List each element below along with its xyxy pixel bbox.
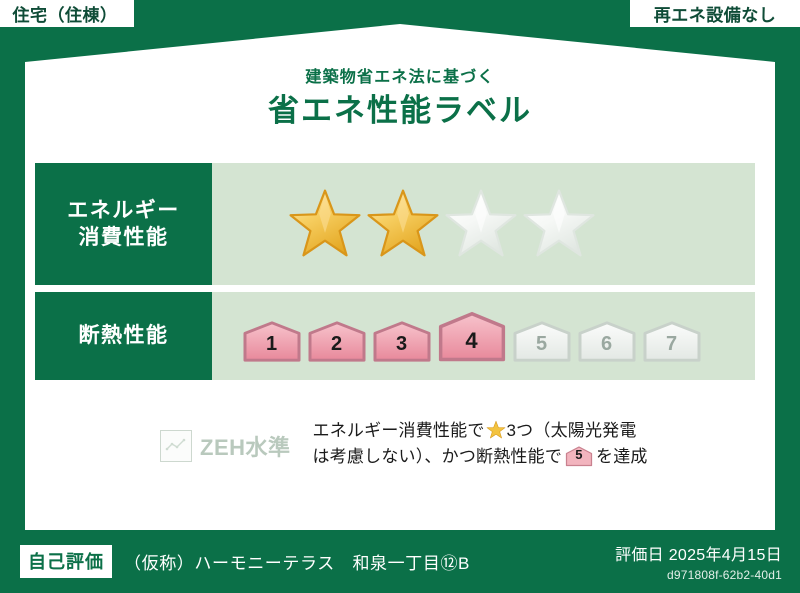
zeh-desc-part1: エネルギー消費性能で [313, 421, 485, 440]
insulation-grade-chip-6: 6 [576, 319, 638, 363]
energy-performance-label: 住宅（住棟） 再エネ設備なし 建築物省エネ法に基づく 省エネ性能ラベル エネルギ… [0, 0, 800, 593]
title-block: 建築物省エネ法に基づく 省エネ性能ラベル [0, 68, 800, 129]
insulation-grade-value: 7 [666, 334, 677, 363]
zeh-mark-label: ZEH水準 [200, 430, 291, 462]
insulation-performance-row: 断熱性能 1234567 [35, 292, 755, 380]
tab-building-type-label: 住宅（住棟） [13, 1, 118, 26]
energy-label-line1: エネルギー [67, 197, 180, 224]
evaluation-id: d971808f-62b2-40d1 [615, 568, 782, 582]
footer-right-group: 評価日 2025年4月15日 d971808f-62b2-40d1 [615, 541, 782, 582]
energy-performance-row: エネルギー 消費性能 [35, 163, 755, 285]
insulation-grade-value: 2 [331, 334, 342, 363]
insulation-grade-chip-5: 5 [511, 319, 573, 363]
insulation-grade-chip-2: 2 [306, 319, 368, 363]
insulation-grade-scale: 1234567 [241, 309, 703, 363]
evaluation-date: 評価日 2025年4月15日 [615, 541, 782, 565]
page-title: 省エネ性能ラベル [0, 93, 800, 129]
insulation-rating-body: 1234567 [212, 292, 755, 380]
insulation-grade-chip-7: 7 [641, 319, 703, 363]
footer-bar: 自己評価 （仮称）ハーモニーテラス 和泉一丁目⑫B 評価日 2025年4月15日… [0, 530, 800, 593]
star-icon-inline [486, 420, 506, 440]
insulation-grade-value: 4 [465, 330, 477, 363]
self-evaluation-badge: 自己評価 [20, 545, 112, 578]
insulation-grade-chip-1: 1 [241, 319, 303, 363]
insulation-grade-chip-3: 3 [371, 319, 433, 363]
insulation-performance-label-block: 断熱性能 [35, 292, 212, 380]
tab-building-type: 住宅（住棟） [0, 0, 134, 27]
energy-label-line2: 消費性能 [79, 224, 169, 251]
insulation-grade-chip-4: 4 [436, 309, 508, 363]
zeh-checkbox-icon [160, 430, 192, 462]
insulation-grade-chip-inline: 5 [565, 445, 593, 467]
insulation-grade-value: 1 [266, 334, 277, 363]
insulation-grade-chip-inline-value: 5 [565, 445, 593, 467]
star-icon [288, 187, 362, 261]
energy-performance-label-block: エネルギー 消費性能 [35, 163, 212, 285]
star-icon [366, 187, 440, 261]
title-subtitle: 建築物省エネ法に基づく [0, 68, 800, 87]
tab-renewable-energy: 再エネ設備なし [630, 0, 800, 27]
building-name: （仮称）ハーモニーテラス 和泉一丁目⑫B [124, 549, 470, 574]
insulation-label: 断熱性能 [79, 322, 169, 349]
energy-rating-body [212, 163, 755, 285]
insulation-grade-value: 3 [396, 334, 407, 363]
zeh-desc-part2: は考慮しない）、かつ断熱性能で [313, 447, 563, 466]
tab-renewable-energy-label: 再エネ設備なし [654, 1, 777, 26]
star-outline-icon [444, 187, 518, 261]
zeh-mark: ZEH水準 [160, 430, 291, 462]
zeh-criteria-text: エネルギー消費性能で 3つ（太陽光発電 は考慮しない）、かつ断熱性能で [313, 418, 648, 471]
insulation-grade-value: 6 [601, 334, 612, 363]
star-outline-icon [522, 187, 596, 261]
star-rating [288, 187, 596, 261]
zeh-desc-part3: を達成 [596, 447, 648, 466]
insulation-grade-value: 5 [536, 334, 547, 363]
zeh-criteria-section: ZEH水準 エネルギー消費性能で 3つ（太陽光発電 は考慮しない）、かつ断熱性能… [35, 418, 755, 471]
zeh-desc-star-count: 3つ（太陽光発電 [507, 421, 637, 440]
footer-left-group: 自己評価 （仮称）ハーモニーテラス 和泉一丁目⑫B [20, 545, 470, 578]
